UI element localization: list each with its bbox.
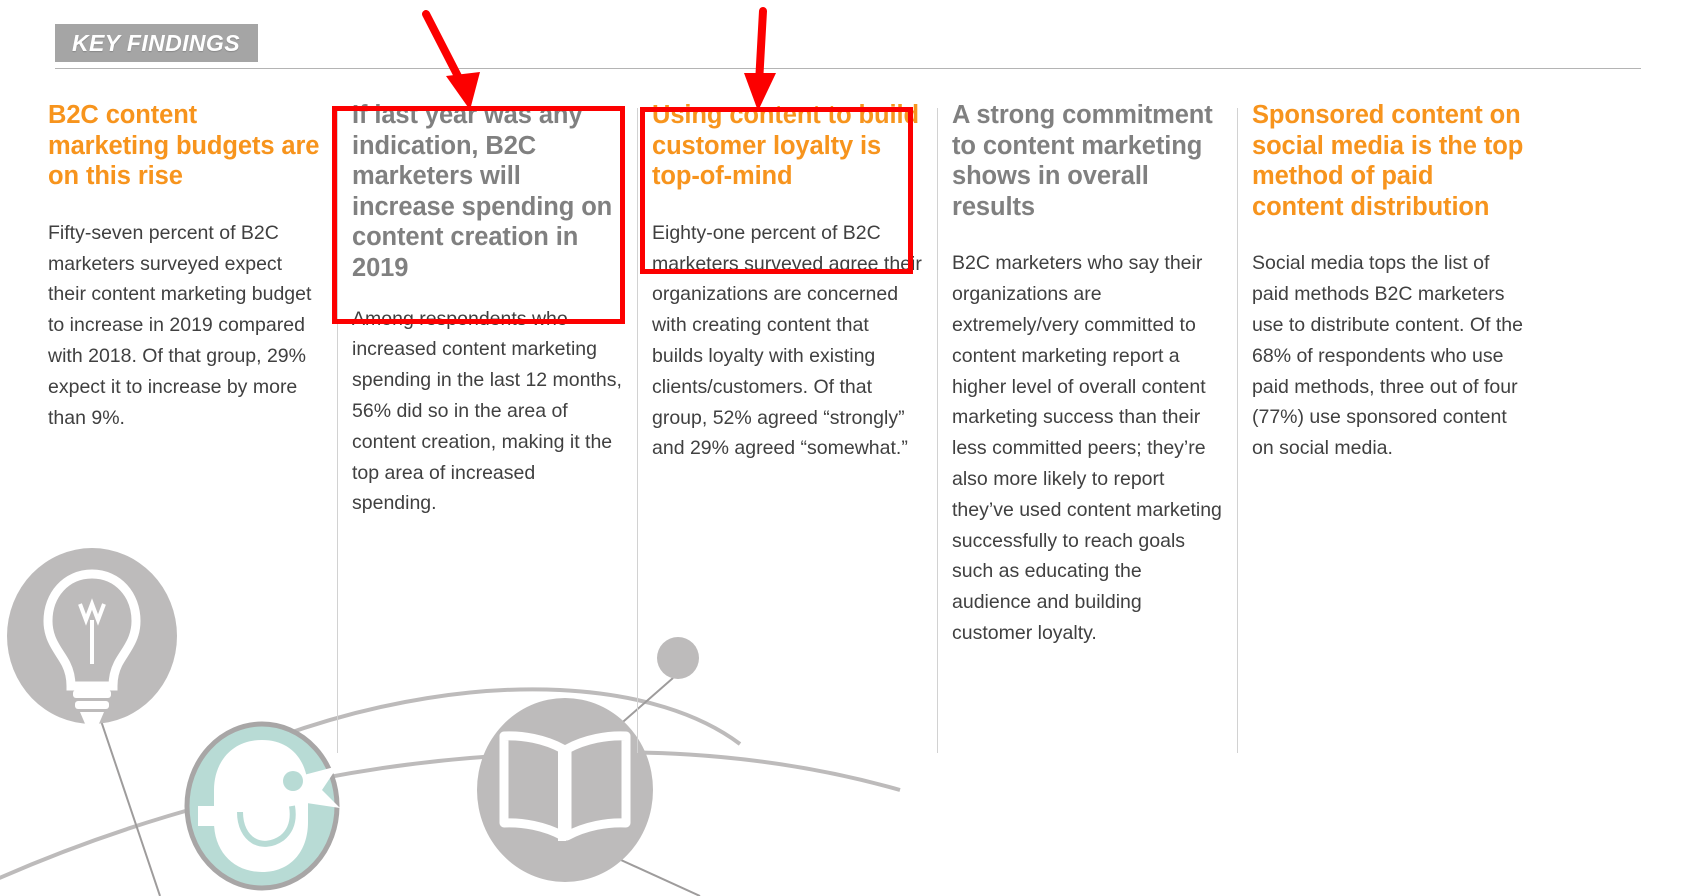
finding-heading: Using content to build customer loyalty …	[652, 100, 924, 192]
finding-body: Eighty-one percent of B2C marketers surv…	[652, 218, 924, 464]
finding-body: B2C marketers who say their organization…	[952, 248, 1224, 648]
finding-heading: If last year was any indication, B2C mar…	[352, 100, 624, 284]
finding-column-customer-loyalty: Using content to build customer loyalty …	[652, 100, 924, 464]
annotation-arrow-customer-loyalty	[736, 5, 796, 115]
finding-heading: B2C content marketing budgets are on thi…	[48, 100, 320, 192]
key-findings-label: KEY FINDINGS	[72, 30, 240, 57]
finding-body: Social media tops the list of paid metho…	[1252, 248, 1524, 464]
finding-column-strong-commitment: A strong commitment to content marketing…	[952, 100, 1224, 649]
finding-column-increase-spending: If last year was any indication, B2C mar…	[352, 100, 624, 519]
key-findings-band: KEY FINDINGS	[55, 24, 258, 62]
key-findings-page: KEY FINDINGS B2C content marketing budge…	[0, 0, 1696, 896]
header-divider-rule	[55, 68, 1641, 69]
finding-body: Fifty-seven percent of B2C marketers sur…	[48, 218, 320, 434]
finding-column-sponsored-social: Sponsored content on social media is the…	[1252, 100, 1524, 464]
finding-column-b2c-budgets: B2C content marketing budgets are on thi…	[48, 100, 320, 433]
finding-heading: A strong commitment to content marketing…	[952, 100, 1224, 222]
findings-columns: B2C content marketing budgets are on thi…	[0, 100, 1696, 800]
finding-heading: Sponsored content on social media is the…	[1252, 100, 1524, 222]
connector-line-book	[610, 855, 700, 896]
finding-body: Among respondents who increased content …	[352, 304, 624, 520]
